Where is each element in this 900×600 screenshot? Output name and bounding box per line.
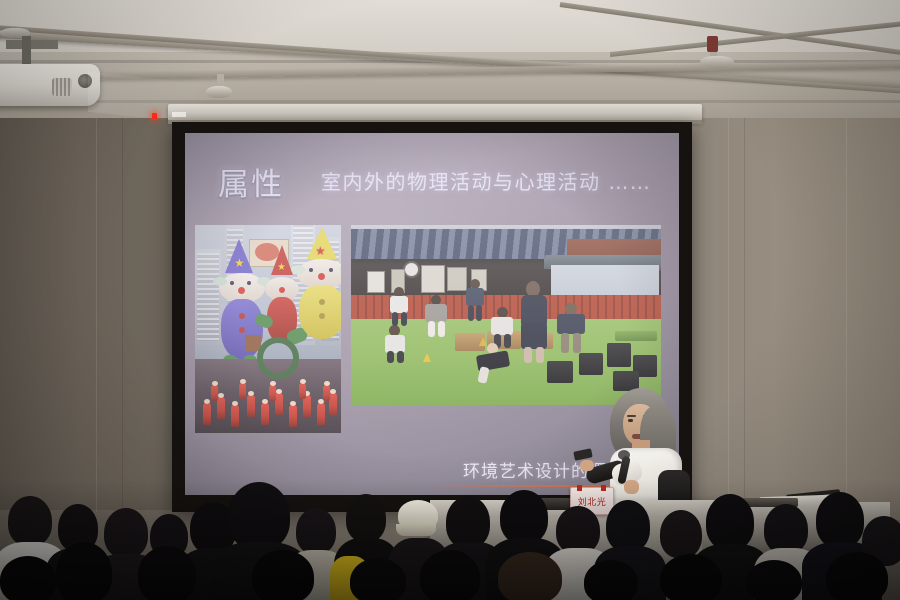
audience-head [660,510,702,558]
ceiling-speaker-icon [206,86,232,98]
power-led-icon [152,113,157,119]
audience [0,480,900,600]
ceiling-edge-line [0,100,900,103]
audience-head-curly [498,552,562,600]
audience-head [346,494,386,542]
wall-seam [96,112,97,512]
audience-head [420,550,480,600]
lecture-hall-photo: 属性 室内外的物理活动与心理活动 …… ★ [0,0,900,600]
audience-head [8,496,52,546]
audience-head [584,560,638,600]
right-wall-panel [690,110,900,520]
audience-head [500,490,548,544]
ceiling-speaker-icon [700,56,734,68]
wall-seam [728,112,729,512]
wall-seam [846,112,847,512]
ceiling [0,0,900,118]
audience-head [660,554,722,600]
cap-brim [396,524,436,536]
left-wall-panel [0,110,180,510]
audience-head [764,504,808,554]
audience-head [138,546,196,600]
audience-head [706,494,754,550]
ceiling-fixture-body [707,36,718,52]
audience-head [296,508,336,554]
audience-head [350,558,406,600]
audience-head [104,508,148,558]
audience-head [606,500,650,552]
audience-head [56,542,112,600]
audience-head [556,506,600,554]
audience-head [446,496,490,548]
audience-head [0,556,56,600]
audience-head [252,550,314,600]
wall-seam [744,112,745,512]
audience-head [826,552,888,600]
wall-seam [122,112,123,512]
audience-head [746,560,802,600]
audience-head [228,482,290,550]
audience-head [816,492,864,548]
